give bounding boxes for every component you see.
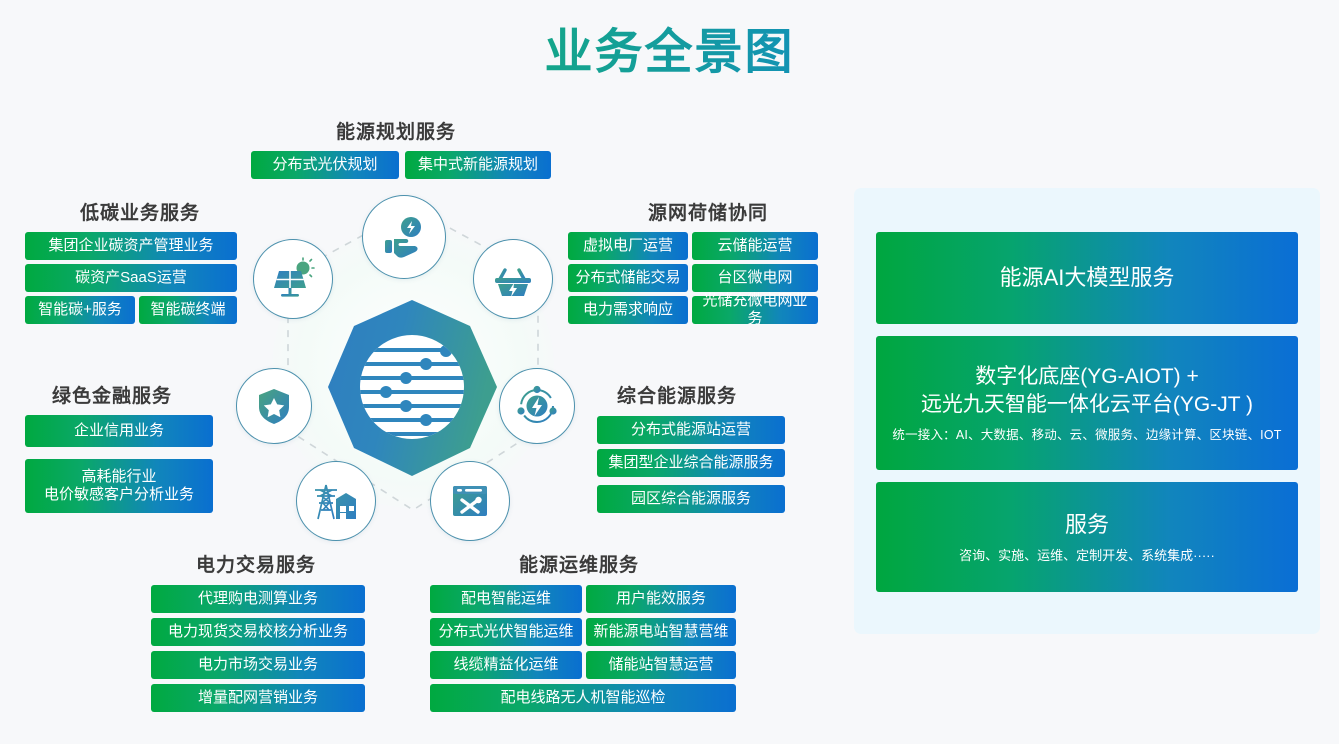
- tag-energy-om-6[interactable]: 配电线路无人机智能巡检: [430, 684, 736, 712]
- tag-power-trading-0[interactable]: 代理购电测算业务: [151, 585, 365, 613]
- tag-integrated-energy-0[interactable]: 分布式能源站运营: [597, 416, 785, 444]
- group-title-low-carbon: 低碳业务服务: [80, 198, 200, 225]
- tag-energy-om-4[interactable]: 线缆精益化运维: [430, 651, 582, 679]
- group-title-energy-planning: 能源规划服务: [336, 117, 456, 144]
- tag-source-grid-5[interactable]: 光储充微电网业务: [692, 296, 818, 324]
- tag-energy-planning-1[interactable]: 集中式新能源规划: [405, 151, 551, 179]
- group-title-energy-om: 能源运维服务: [519, 550, 639, 577]
- hub-node-energy-basket[interactable]: [473, 239, 553, 319]
- tag-low-carbon-1[interactable]: 碳资产SaaS运营: [25, 264, 237, 292]
- platform-card-digital-base-line2: 远光九天智能一体化云平台(YG-JT ): [921, 391, 1253, 419]
- group-title-source-grid: 源网荷储协同: [648, 198, 768, 225]
- hub-node-power-tower[interactable]: [296, 461, 376, 541]
- tag-energy-om-1[interactable]: 用户能效服务: [586, 585, 736, 613]
- tag-source-grid-0[interactable]: 虚拟电厂运营: [568, 232, 688, 260]
- tag-low-carbon-3[interactable]: 智能碳终端: [139, 296, 237, 324]
- tag-source-grid-3[interactable]: 台区微电网: [692, 264, 818, 292]
- platform-card-services-title: 服务: [1065, 510, 1109, 539]
- tag-energy-om-5[interactable]: 储能站智慧运营: [586, 651, 736, 679]
- platform-card-ai-model-title: 能源AI大模型服务: [1000, 263, 1175, 292]
- tag-integrated-energy-2[interactable]: 园区综合能源服务: [597, 485, 785, 513]
- tag-energy-om-0[interactable]: 配电智能运维: [430, 585, 582, 613]
- tag-power-trading-2[interactable]: 电力市场交易业务: [151, 651, 365, 679]
- tag-energy-om-2[interactable]: 分布式光伏智能运维: [430, 618, 582, 646]
- tag-green-finance-0[interactable]: 企业信用业务: [25, 415, 213, 447]
- hub-node-energy-orbit[interactable]: [499, 368, 575, 444]
- platform-card-digital-base[interactable]: 数字化底座(YG-AIOT) + 远光九天智能一体化云平台(YG-JT ) 统一…: [876, 336, 1298, 470]
- platform-panel: 能源AI大模型服务 数字化底座(YG-AIOT) + 远光九天智能一体化云平台(…: [854, 188, 1320, 634]
- tag-source-grid-1[interactable]: 云储能运营: [692, 232, 818, 260]
- hub-node-hand-energy[interactable]: [362, 195, 446, 279]
- group-title-green-finance: 绿色金融服务: [52, 381, 172, 408]
- tag-low-carbon-2[interactable]: 智能碳+服务: [25, 296, 135, 324]
- hub-node-maintenance-tools[interactable]: [430, 461, 510, 541]
- hand-energy-icon: [381, 214, 427, 260]
- energy-orbit-icon: [515, 384, 559, 428]
- tag-energy-planning-0[interactable]: 分布式光伏规划: [251, 151, 399, 179]
- platform-card-services[interactable]: 服务 咨询、实施、运维、定制开发、系统集成·····: [876, 482, 1298, 592]
- tag-power-trading-1[interactable]: 电力现货交易校核分析业务: [151, 618, 365, 646]
- shield-star-icon: [253, 385, 295, 427]
- platform-card-ai-model[interactable]: 能源AI大模型服务: [876, 232, 1298, 324]
- group-title-integrated-energy: 综合能源服务: [617, 381, 737, 408]
- platform-card-digital-base-subtitle: 统一接入：AI、大数据、移动、云、微服务、边缘计算、区块链、IOT: [892, 424, 1281, 443]
- tag-integrated-energy-1[interactable]: 集团型企业综合能源服务: [597, 449, 785, 477]
- energy-basket-icon: [491, 257, 535, 301]
- hub-node-shield-star[interactable]: [236, 368, 312, 444]
- solar-panel-icon: [271, 257, 315, 301]
- tag-low-carbon-0[interactable]: 集团企业碳资产管理业务: [25, 232, 237, 260]
- tag-source-grid-2[interactable]: 分布式储能交易: [568, 264, 688, 292]
- page-title: 业务全景图: [0, 22, 1339, 84]
- tag-source-grid-4[interactable]: 电力需求响应: [568, 296, 688, 324]
- business-panorama-page: 业务全景图: [0, 0, 1339, 744]
- tag-energy-om-3[interactable]: 新能源电站智慧营维: [586, 618, 736, 646]
- group-title-power-trading: 电力交易服务: [196, 550, 316, 577]
- platform-card-services-subtitle: 咨询、实施、运维、定制开发、系统集成·····: [959, 545, 1215, 564]
- platform-card-digital-base-line1: 数字化底座(YG-AIOT) +: [975, 363, 1198, 391]
- power-tower-station-icon: [312, 479, 360, 523]
- center-hub-graphic: [234, 186, 590, 556]
- tag-green-finance-1[interactable]: 高耗能行业 电价敏感客户分析业务: [25, 459, 213, 513]
- hub-node-solar-panel[interactable]: [253, 239, 333, 319]
- maintenance-tools-icon: [448, 479, 492, 523]
- center-octagon: [320, 294, 505, 484]
- tag-power-trading-3[interactable]: 增量配网营销业务: [151, 684, 365, 712]
